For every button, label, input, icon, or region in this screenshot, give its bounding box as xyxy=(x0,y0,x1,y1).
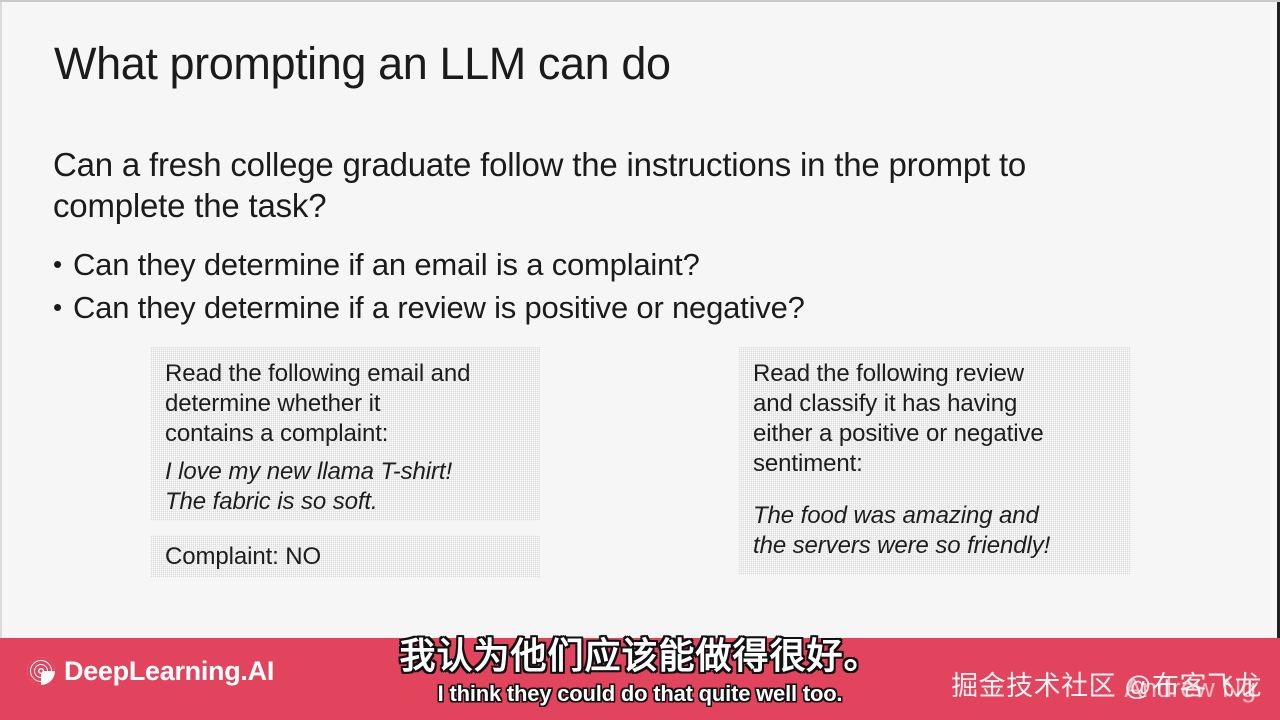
sample-line: The fabric is so soft. xyxy=(165,487,526,517)
watermark-bottom-right: 掘金技术社区 @布客飞龙 xyxy=(951,670,1262,702)
email-prompt-card: Read the following email and determine w… xyxy=(150,347,540,521)
slide-canvas: What prompting an LLM can do Can a fresh… xyxy=(0,0,1280,720)
slide-top-border xyxy=(0,0,1280,2)
brand-bar: DeepLearning.AI Andrew Ng 掘金技术社区 @布客飞龙 xyxy=(0,638,1280,720)
bullet-dot-icon: • xyxy=(53,286,73,329)
sample-line: I love my new llama T-shirt! xyxy=(165,457,526,487)
page-title: What prompting an LLM can do xyxy=(54,34,671,94)
bullet-dot-icon: • xyxy=(53,243,73,286)
prompt-line: determine whether it xyxy=(165,389,526,419)
prompt-line: sentiment: xyxy=(753,449,1117,479)
prompt-line: Read the following email and xyxy=(165,359,526,389)
spacer xyxy=(753,479,1117,501)
brand-lockup: DeepLearning.AI xyxy=(26,656,274,686)
lead-question: Can a fresh college graduate follow the … xyxy=(53,144,1143,226)
prompt-line: either a positive or negative xyxy=(753,419,1117,449)
prompt-line: and classify it has having xyxy=(753,389,1117,419)
bullet-list: • Can they determine if an email is a co… xyxy=(53,243,1153,329)
list-item-label: Can they determine if an email is a comp… xyxy=(73,243,1153,286)
prompt-line: contains a complaint: xyxy=(165,419,526,449)
list-item-label: Can they determine if a review is positi… xyxy=(73,286,1153,329)
answer-label: Complaint: NO xyxy=(165,541,526,572)
list-item: • Can they determine if an email is a co… xyxy=(53,243,1153,286)
prompt-line: Read the following review xyxy=(753,359,1117,389)
review-prompt-card: Read the following review and classify i… xyxy=(738,347,1131,575)
sample-line: the servers were so friendly! xyxy=(753,531,1117,561)
slide-left-border xyxy=(0,2,2,720)
spacer xyxy=(165,449,526,457)
brand-name: DeepLearning.AI xyxy=(64,656,274,686)
list-item: • Can they determine if a review is posi… xyxy=(53,286,1153,329)
email-answer-card: Complaint: NO xyxy=(150,535,540,578)
deeplearning-spiral-icon xyxy=(26,656,56,686)
sample-line: The food was amazing and xyxy=(753,501,1117,531)
